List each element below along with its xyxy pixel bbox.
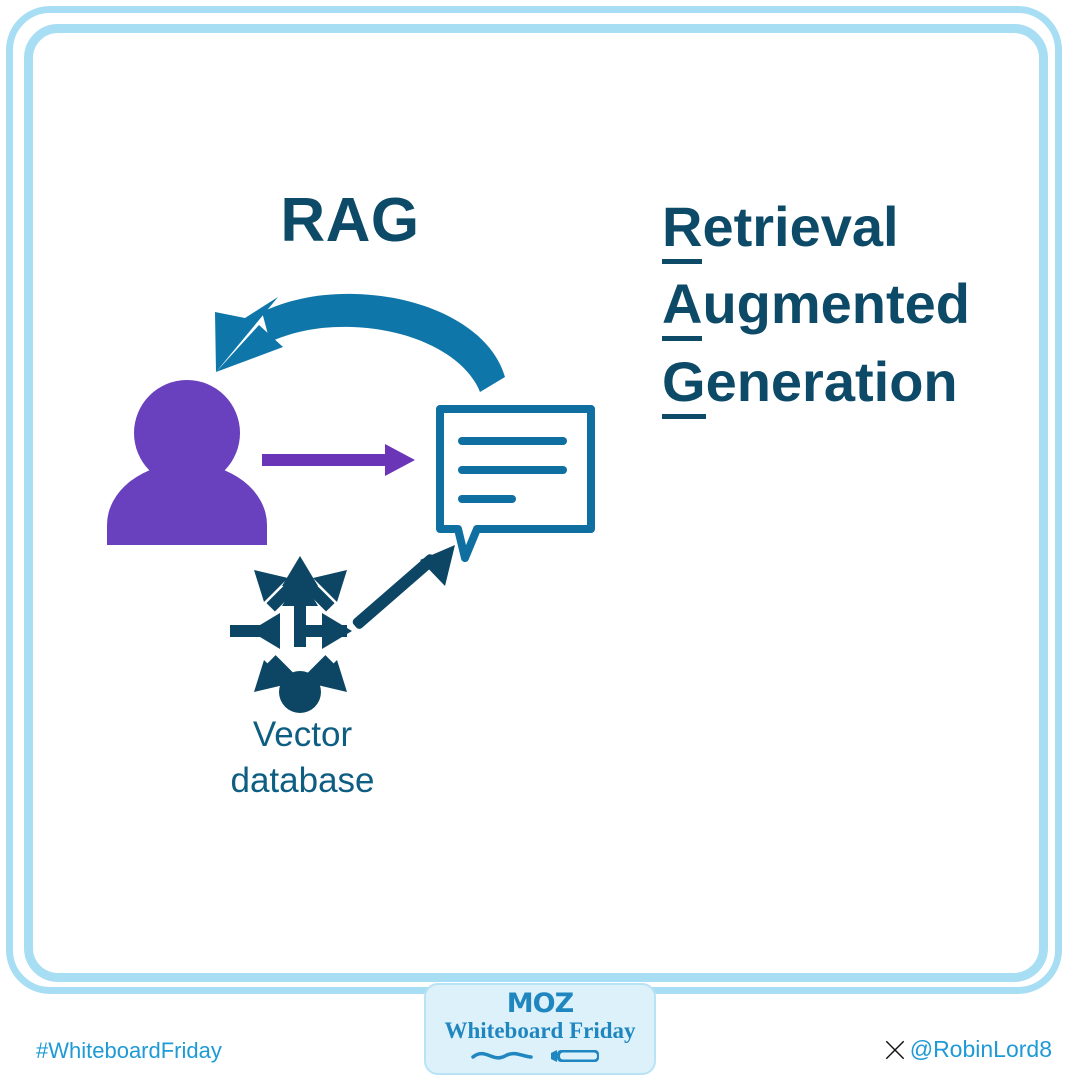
x-twitter-icon <box>884 1039 906 1061</box>
vdb-arrow-left <box>230 613 280 649</box>
expansion-word-retrieval: Retrieval <box>662 188 1022 265</box>
bubble-to-person-curved-arrow <box>215 294 505 392</box>
vector-database-icon <box>230 556 352 713</box>
hashtag-label: #WhiteboardFriday <box>36 1038 222 1064</box>
person-to-bubble-arrow <box>262 444 415 476</box>
expansion-cap-g: G <box>662 350 706 419</box>
vector-database-label: Vector database <box>200 712 405 804</box>
social-handle[interactable]: @RobinLord8 <box>884 1036 1052 1063</box>
expansion-rest-retrieval: etrieval <box>702 195 898 258</box>
expansion-rest-generation: eneration <box>706 350 958 413</box>
squiggle-icon <box>473 1053 531 1057</box>
speech-bubble-icon <box>440 409 591 558</box>
whiteboard-friday-label: Whiteboard Friday <box>444 1019 635 1043</box>
expansion-word-augmented: Augmented <box>662 265 1022 342</box>
rag-expansion-text: Retrieval Augmented Generation <box>662 188 1022 420</box>
expansion-rest-augmented: ugmented <box>702 272 970 335</box>
rag-diagram <box>0 0 1080 1080</box>
moz-logo: MOZ <box>507 990 573 1017</box>
rag-acronym-title: RAG <box>200 190 500 252</box>
vector-database-label-line1: Vector <box>200 712 405 758</box>
squiggle-and-marker-icons <box>465 1047 615 1068</box>
expansion-cap-r: R <box>662 195 702 264</box>
marker-pen-icon <box>551 1050 599 1062</box>
moz-whiteboard-friday-badge: MOZ Whiteboard Friday <box>424 983 656 1075</box>
expansion-word-generation: Generation <box>662 343 1022 420</box>
expansion-cap-a: A <box>662 272 702 341</box>
vector-database-label-line2: database <box>200 758 405 804</box>
vdb-arrow-right <box>303 613 352 649</box>
database-to-bubble-arrow <box>351 545 455 631</box>
person-icon <box>107 380 267 545</box>
social-handle-label: @RobinLord8 <box>910 1036 1052 1063</box>
